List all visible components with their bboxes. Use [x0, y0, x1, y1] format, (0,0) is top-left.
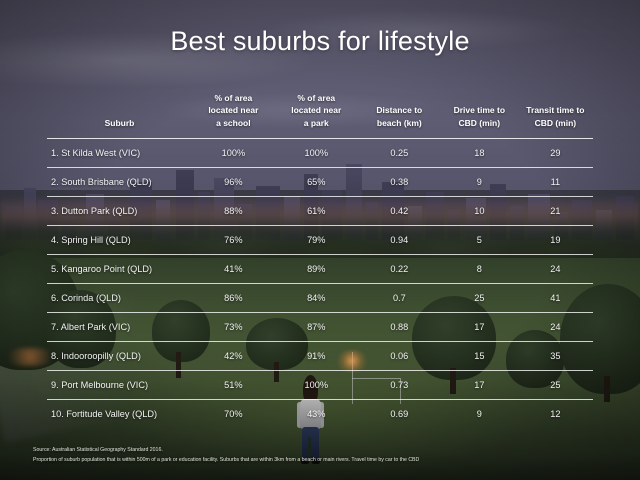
table-row: 3. Dutton Park (QLD)88%61%0.421021 — [47, 196, 593, 225]
column-header-beach: Distance to beach (km) — [358, 92, 441, 138]
cell-school: 73% — [192, 312, 275, 341]
cell-beach: 0.88 — [358, 312, 441, 341]
header-line: % of area — [275, 92, 358, 104]
table-row: 9. Port Melbourne (VIC)51%100%0.731725 — [47, 370, 593, 399]
cell-suburb: 4. Spring Hill (QLD) — [47, 225, 192, 254]
cell-park: 43% — [275, 399, 358, 428]
cell-suburb: 9. Port Melbourne (VIC) — [47, 370, 192, 399]
header-line: a school — [192, 117, 275, 129]
cell-transit: 24 — [518, 312, 593, 341]
table-row: 7. Albert Park (VIC)73%87%0.881724 — [47, 312, 593, 341]
header-line: CBD (min) — [518, 117, 593, 129]
header-line: a park — [275, 117, 358, 129]
cell-beach: 0.06 — [358, 341, 441, 370]
cell-drive: 9 — [441, 167, 518, 196]
cell-drive: 17 — [441, 312, 518, 341]
cell-school: 51% — [192, 370, 275, 399]
cell-drive: 8 — [441, 254, 518, 283]
table-row: 2. South Brisbane (QLD)96%65%0.38911 — [47, 167, 593, 196]
cell-drive: 5 — [441, 225, 518, 254]
cell-beach: 0.38 — [358, 167, 441, 196]
header-line: Transit time to — [518, 104, 593, 116]
footnote-source: Source: Australian Statistical Geography… — [33, 445, 593, 455]
suburbs-table: Suburb % of area located near a school %… — [47, 92, 593, 428]
header-line: located near — [192, 104, 275, 116]
cell-park: 84% — [275, 283, 358, 312]
table-row: 4. Spring Hill (QLD)76%79%0.94519 — [47, 225, 593, 254]
cell-suburb: 3. Dutton Park (QLD) — [47, 196, 192, 225]
header-line: Drive time to — [441, 104, 518, 116]
cell-beach: 0.69 — [358, 399, 441, 428]
column-header-transit: Transit time to CBD (min) — [518, 92, 593, 138]
header-line: Distance to — [358, 104, 441, 116]
cell-park: 100% — [275, 370, 358, 399]
cell-beach: 0.25 — [358, 138, 441, 167]
slide: Best suburbs for lifestyle Suburb % of a… — [0, 0, 640, 480]
header-line: % of area — [192, 92, 275, 104]
cell-school: 96% — [192, 167, 275, 196]
cell-suburb: 6. Corinda (QLD) — [47, 283, 192, 312]
cell-beach: 0.94 — [358, 225, 441, 254]
cell-park: 65% — [275, 167, 358, 196]
cell-transit: 35 — [518, 341, 593, 370]
cell-park: 61% — [275, 196, 358, 225]
cell-suburb: 5. Kangaroo Point (QLD) — [47, 254, 192, 283]
cell-beach: 0.73 — [358, 370, 441, 399]
cell-drive: 18 — [441, 138, 518, 167]
table-row: 8. Indooroopilly (QLD)42%91%0.061535 — [47, 341, 593, 370]
column-header-park: % of area located near a park — [275, 92, 358, 138]
cell-transit: 24 — [518, 254, 593, 283]
cell-drive: 17 — [441, 370, 518, 399]
footnote: Source: Australian Statistical Geography… — [33, 445, 593, 465]
cell-school: 88% — [192, 196, 275, 225]
cell-suburb: 1. St Kilda West (VIC) — [47, 138, 192, 167]
cell-school: 100% — [192, 138, 275, 167]
cell-drive: 15 — [441, 341, 518, 370]
cell-transit: 29 — [518, 138, 593, 167]
cell-beach: 0.22 — [358, 254, 441, 283]
column-header-suburb: Suburb — [47, 92, 192, 138]
cell-park: 89% — [275, 254, 358, 283]
header-line: located near — [275, 104, 358, 116]
page-title: Best suburbs for lifestyle — [0, 26, 640, 57]
cell-school: 76% — [192, 225, 275, 254]
cell-park: 91% — [275, 341, 358, 370]
cell-transit: 11 — [518, 167, 593, 196]
table-header-row: Suburb % of area located near a school %… — [47, 92, 593, 138]
table-body: 1. St Kilda West (VIC)100%100%0.2518292.… — [47, 138, 593, 428]
cell-park: 79% — [275, 225, 358, 254]
cell-suburb: 8. Indooroopilly (QLD) — [47, 341, 192, 370]
table-row: 5. Kangaroo Point (QLD)41%89%0.22824 — [47, 254, 593, 283]
cell-park: 100% — [275, 138, 358, 167]
cell-school: 70% — [192, 399, 275, 428]
cell-transit: 19 — [518, 225, 593, 254]
cell-school: 42% — [192, 341, 275, 370]
header-line: Suburb — [47, 117, 192, 129]
cell-school: 41% — [192, 254, 275, 283]
cell-drive: 9 — [441, 399, 518, 428]
header-line: beach (km) — [358, 117, 441, 129]
column-header-school: % of area located near a school — [192, 92, 275, 138]
cell-drive: 25 — [441, 283, 518, 312]
cell-transit: 21 — [518, 196, 593, 225]
footnote-definition: Proportion of suburb population that is … — [33, 455, 593, 465]
cell-transit: 12 — [518, 399, 593, 428]
table-row: 1. St Kilda West (VIC)100%100%0.251829 — [47, 138, 593, 167]
cell-drive: 10 — [441, 196, 518, 225]
table-row: 10. Fortitude Valley (QLD)70%43%0.69912 — [47, 399, 593, 428]
cell-suburb: 10. Fortitude Valley (QLD) — [47, 399, 192, 428]
cell-suburb: 7. Albert Park (VIC) — [47, 312, 192, 341]
cell-transit: 25 — [518, 370, 593, 399]
cell-transit: 41 — [518, 283, 593, 312]
cell-park: 87% — [275, 312, 358, 341]
column-header-drive: Drive time to CBD (min) — [441, 92, 518, 138]
cell-suburb: 2. South Brisbane (QLD) — [47, 167, 192, 196]
cell-school: 86% — [192, 283, 275, 312]
cell-beach: 0.42 — [358, 196, 441, 225]
slide-content: Best suburbs for lifestyle Suburb % of a… — [0, 0, 640, 480]
table-header: Suburb % of area located near a school %… — [47, 92, 593, 138]
table-row: 6. Corinda (QLD)86%84%0.72541 — [47, 283, 593, 312]
header-line: CBD (min) — [441, 117, 518, 129]
cell-beach: 0.7 — [358, 283, 441, 312]
